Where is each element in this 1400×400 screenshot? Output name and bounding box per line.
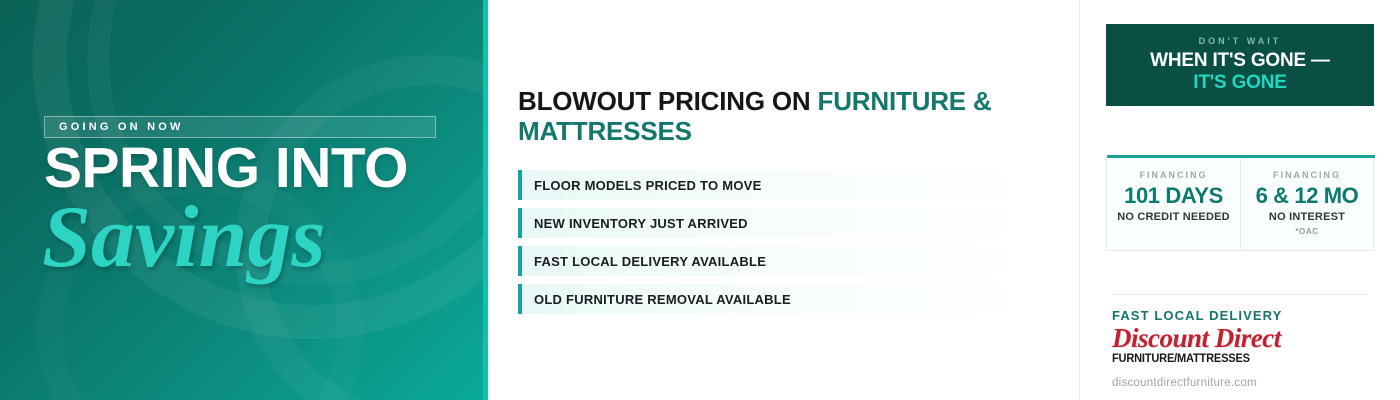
feature-item: OLD FURNITURE REMOVAL AVAILABLE [518, 284, 1053, 314]
feature-label: OLD FURNITURE REMOVAL AVAILABLE [518, 292, 791, 307]
feature-item: FLOOR MODELS PRICED TO MOVE [518, 170, 1053, 200]
financing-fine-print: *OAC [1247, 227, 1367, 236]
sidebar-panel: DON'T WAIT WHEN IT'S GONE — IT'S GONE FI… [1079, 0, 1400, 400]
urgency-callout: DON'T WAIT WHEN IT'S GONE — IT'S GONE [1106, 24, 1374, 106]
financing-label: FINANCING [1113, 170, 1234, 180]
hero-script-title: Savings [42, 194, 326, 282]
feature-label: NEW INVENTORY JUST ARRIVED [518, 216, 748, 231]
financing-label: FINANCING [1247, 170, 1367, 180]
feature-label: FLOOR MODELS PRICED TO MOVE [518, 178, 762, 193]
financing-value: 101 DAYS [1113, 184, 1234, 208]
main-headline: BLOWOUT PRICING ON FURNITURE & MATTRESSE… [518, 86, 1018, 146]
financing-card-101-days: FINANCING 101 DAYS NO CREDIT NEEDED [1107, 158, 1240, 250]
headline-lead: BLOWOUT PRICING ON [518, 86, 818, 116]
brand-divider [1112, 294, 1368, 295]
financing-subtext: NO CREDIT NEEDED [1113, 211, 1234, 225]
brand-block: FAST LOCAL DELIVERY Discount Direct FURN… [1112, 308, 1374, 389]
urgency-kicker: DON'T WAIT [1199, 36, 1282, 46]
feature-item: NEW INVENTORY JUST ARRIVED [518, 208, 1053, 238]
financing-subtext: NO INTEREST [1247, 211, 1367, 225]
financing-value: 6 & 12 MO [1247, 184, 1367, 208]
urgency-headline: WHEN IT'S GONE — [1150, 50, 1330, 72]
delivery-tagline: FAST LOCAL DELIVERY [1112, 308, 1374, 323]
brand-website-url[interactable]: discountdirectfurniture.com [1112, 377, 1374, 389]
hero-content: GOING ON NOW SPRING INTO Savings [44, 0, 444, 400]
feature-list: FLOOR MODELS PRICED TO MOVE NEW INVENTOR… [518, 170, 1053, 314]
promotional-ad-banner: GOING ON NOW SPRING INTO Savings BLOWOUT… [0, 0, 1400, 400]
eyebrow-badge: GOING ON NOW [44, 116, 436, 138]
brand-logo-subtitle: FURNITURE/MATTRESSES [1112, 351, 1353, 365]
main-content-panel: BLOWOUT PRICING ON FURNITURE & MATTRESSE… [488, 0, 1079, 400]
feature-label: FAST LOCAL DELIVERY AVAILABLE [518, 254, 766, 269]
eyebrow-label: GOING ON NOW [45, 121, 184, 133]
hero-panel: GOING ON NOW SPRING INTO Savings [0, 0, 488, 400]
brand-logo: Discount Direct [1112, 324, 1374, 352]
financing-accent-bar [1107, 155, 1375, 158]
financing-offers: FINANCING 101 DAYS NO CREDIT NEEDED FINA… [1106, 158, 1374, 251]
urgency-headline-accent: IT'S GONE [1193, 72, 1287, 94]
feature-item: FAST LOCAL DELIVERY AVAILABLE [518, 246, 1053, 276]
financing-card-6-12-mo: FINANCING 6 & 12 MO NO INTEREST *OAC [1240, 158, 1373, 250]
